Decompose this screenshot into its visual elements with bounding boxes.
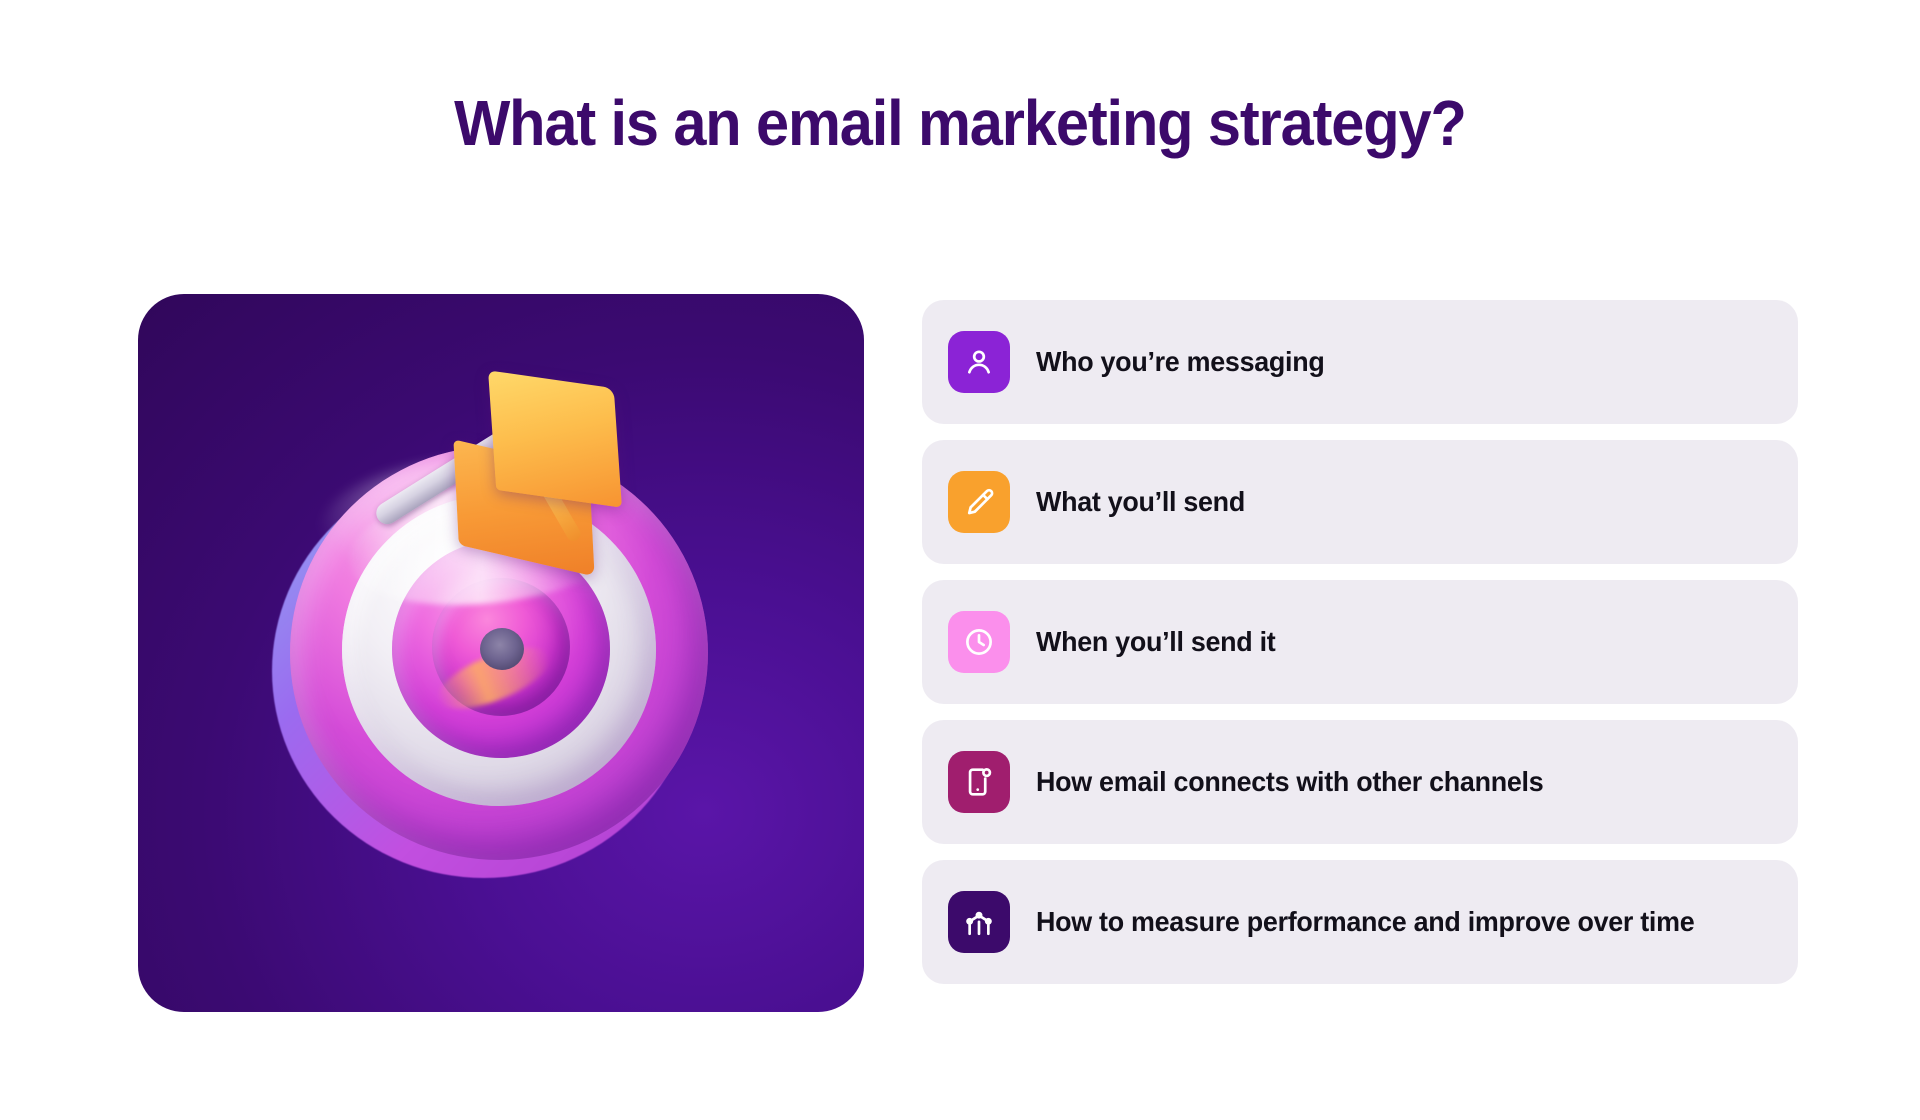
person-icon xyxy=(948,331,1010,393)
list-item[interactable]: Who you’re messaging xyxy=(922,300,1798,424)
list-item-label: Who you’re messaging xyxy=(1036,346,1324,378)
list-item[interactable]: How email connects with other channels xyxy=(922,720,1798,844)
illustration-card xyxy=(138,294,864,1012)
checklist: Who you’re messaging What you’ll send xyxy=(922,294,1798,984)
content-columns: Who you’re messaging What you’ll send xyxy=(138,294,1798,1014)
page-title: What is an email marketing strategy? xyxy=(454,88,1466,158)
dart-impact-point xyxy=(480,628,524,670)
list-item-label: When you’ll send it xyxy=(1036,626,1275,658)
list-item-label: How email connects with other channels xyxy=(1036,766,1543,798)
bar-chart-icon xyxy=(948,891,1010,953)
list-item-label: What you’ll send xyxy=(1036,486,1245,518)
list-item[interactable]: What you’ll send xyxy=(922,440,1798,564)
pencil-icon xyxy=(948,471,1010,533)
list-item[interactable]: How to measure performance and improve o… xyxy=(922,860,1798,984)
list-item-label: How to measure performance and improve o… xyxy=(1036,906,1694,938)
infographic-page: What is an email marketing strategy? xyxy=(0,0,1920,1120)
mobile-device-icon xyxy=(948,751,1010,813)
clock-icon xyxy=(948,611,1010,673)
page-title-container: What is an email marketing strategy? xyxy=(0,88,1920,158)
dart-fletching-upper xyxy=(488,370,622,507)
list-item[interactable]: When you’ll send it xyxy=(922,580,1798,704)
dart-graphic xyxy=(400,386,670,606)
target-dartboard-illustration xyxy=(138,294,864,1012)
